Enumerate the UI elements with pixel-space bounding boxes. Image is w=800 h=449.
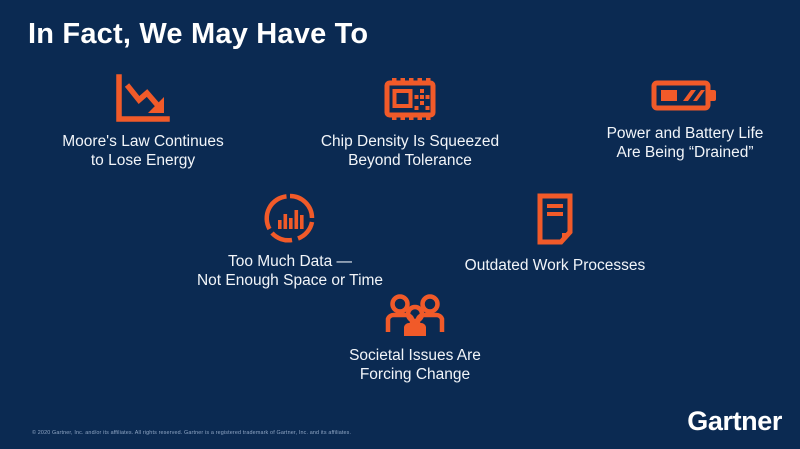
item-label: Societal Issues Are Forcing Change <box>349 346 481 384</box>
item-chip-density: Chip Density Is Squeezed Beyond Toleranc… <box>295 74 525 170</box>
microchip-icon <box>381 74 439 124</box>
declining-chart-icon <box>114 74 172 124</box>
item-societal-issues: Societal Issues Are Forcing Change <box>300 294 530 384</box>
item-outdated-work: Outdated Work Processes <box>440 192 670 275</box>
people-group-icon <box>384 294 446 338</box>
item-too-much-data: Too Much Data — Not Enough Space or Time <box>165 192 415 290</box>
item-battery-life: Power and Battery Life Are Being “Draine… <box>570 74 800 162</box>
item-label: Moore's Law Continues to Lose Energy <box>62 132 224 170</box>
copyright-notice: © 2020 Gartner, Inc. and/or its affiliat… <box>32 429 351 437</box>
slide-canvas: In Fact, We May Have To Moore's Law Cont… <box>0 0 800 449</box>
document-icon <box>533 192 577 248</box>
item-moores-law: Moore's Law Continues to Lose Energy <box>28 74 258 170</box>
data-bar-chart-circle-icon <box>262 192 318 244</box>
gartner-logo: Gartner <box>687 406 782 437</box>
item-label: Power and Battery Life Are Being “Draine… <box>607 124 764 162</box>
page-title: In Fact, We May Have To <box>28 18 368 51</box>
battery-icon <box>650 74 720 116</box>
item-label: Too Much Data — Not Enough Space or Time <box>197 252 383 290</box>
item-label: Chip Density Is Squeezed Beyond Toleranc… <box>321 132 499 170</box>
item-label: Outdated Work Processes <box>465 256 646 275</box>
